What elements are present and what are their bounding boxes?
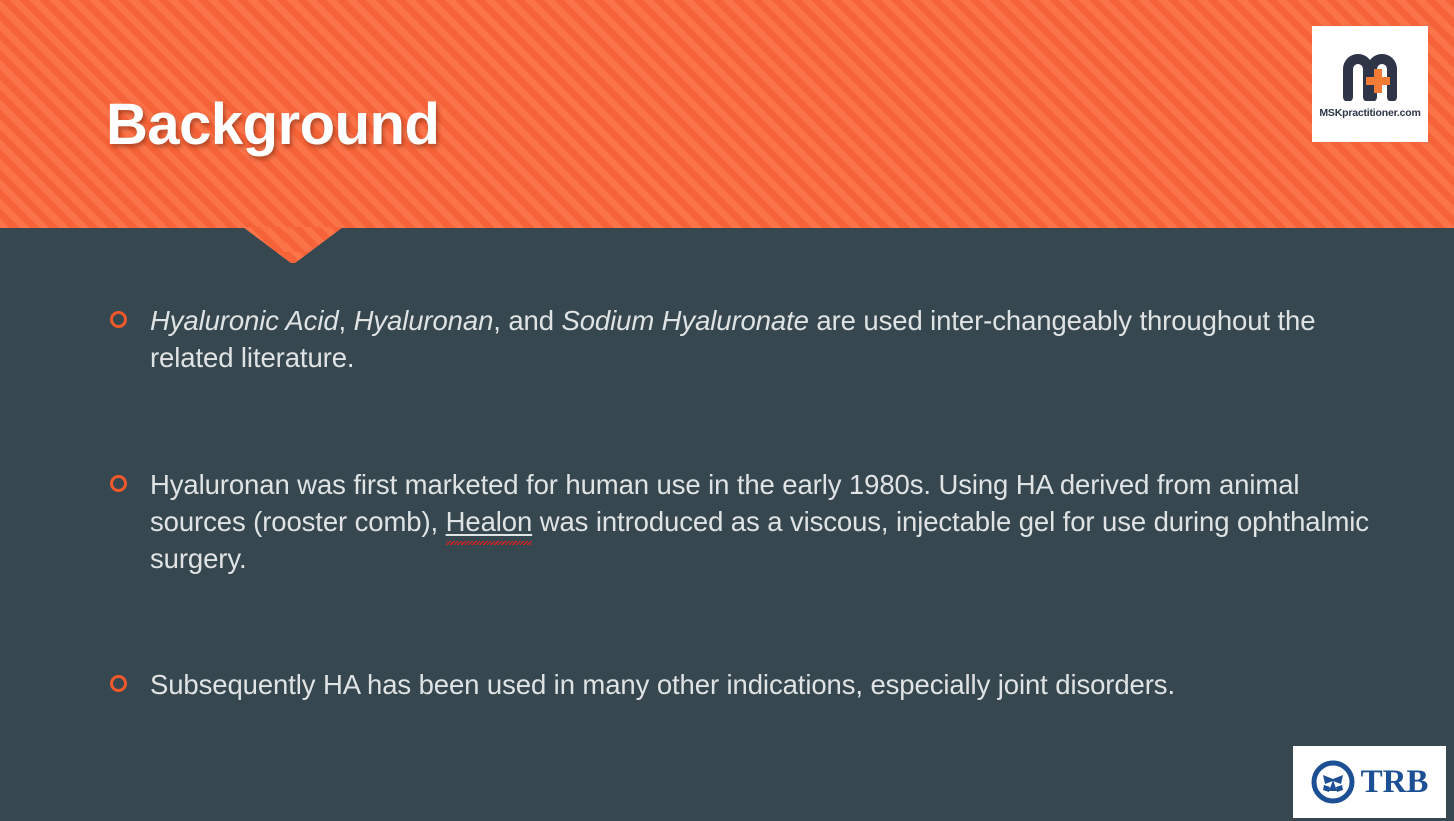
bullet-circle-icon xyxy=(110,675,127,692)
trb-logo-wordmark: TRB xyxy=(1361,766,1429,799)
slide-canvas: Background MSKpractitioner.com Hyaluroni… xyxy=(0,0,1454,821)
bullet-item-3: Subsequently HA has been used in many ot… xyxy=(110,666,1380,703)
term-sodium-hyaluronate: Sodium Hyaluronate xyxy=(562,305,809,336)
bullet-circle-icon xyxy=(110,475,127,492)
bullet-circle-icon xyxy=(110,311,127,328)
trb-circular-emblem-icon xyxy=(1311,760,1355,804)
page-title: Background xyxy=(106,96,439,154)
sep-2: , and xyxy=(493,305,561,336)
sep-1: , xyxy=(339,305,354,336)
slide-body: Hyaluronic Acid, Hyaluronan, and Sodium … xyxy=(0,228,1454,821)
msk-logo-wordmark: MSKpractitioner.com xyxy=(1319,107,1420,119)
bullet-text-1: Hyaluronic Acid, Hyaluronan, and Sodium … xyxy=(150,302,1380,376)
term-hyaluronan: Hyaluronan xyxy=(354,305,494,336)
bullet-item-2: Hyaluronan was first marketed for human … xyxy=(110,466,1380,577)
term-healon-misspelled: Healon xyxy=(446,503,533,540)
msk-practitioner-logo: MSKpractitioner.com xyxy=(1312,26,1428,142)
bullet-text-3: Subsequently HA has been used in many ot… xyxy=(150,666,1380,703)
bullet-text-2: Hyaluronan was first marketed for human … xyxy=(150,466,1380,577)
bullet-item-1: Hyaluronic Acid, Hyaluronan, and Sodium … xyxy=(110,302,1380,376)
msk-m-plus-icon xyxy=(1342,49,1398,101)
term-hyaluronic-acid: Hyaluronic Acid xyxy=(150,305,339,336)
trb-logo: TRB xyxy=(1293,746,1446,818)
